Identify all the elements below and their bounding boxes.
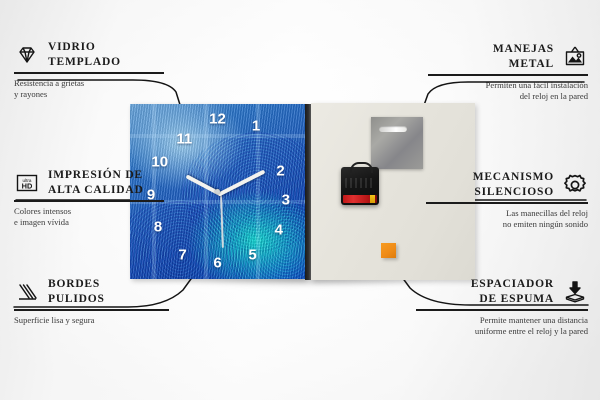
callout-desc-line1: Permite mantener una distancia: [480, 315, 588, 325]
callout-desc-line1: Colores intensos: [14, 206, 71, 216]
foam-spacer-icon: [562, 279, 588, 305]
callout-rule: [14, 72, 164, 73]
callout-rule: [426, 202, 588, 203]
callout-rule: [428, 74, 588, 75]
clock-numeral: 5: [248, 247, 256, 262]
svg-text:HD: HD: [22, 181, 33, 190]
callout-title-line2: PULIDOS: [48, 293, 105, 305]
movement-battery: [343, 195, 377, 203]
callout-espaciador-espuma: ESPACIADOR DE ESPUMA Permite mantener un…: [416, 277, 588, 338]
diamond-icon: [14, 42, 40, 68]
callout-desc-line2: y rayones: [14, 89, 47, 99]
callout-desc-line2: no emiten ningún sonido: [503, 219, 588, 229]
callout-title-line1: ESPACIADOR: [471, 278, 554, 290]
callout-mecanismo-silencioso: MECANISMO SILENCIOSO Las manecillas del …: [426, 170, 588, 231]
callout-bordes-pulidos: BORDES PULIDOS Superficie lisa y segura: [14, 277, 169, 326]
callout-title-line1: VIDRIO: [48, 41, 96, 53]
infographic-canvas: 12 1 2 3 4 5 6 7 8 9 10 11: [0, 0, 600, 400]
gear-icon: [562, 172, 588, 198]
clock-numeral: 3: [282, 193, 290, 208]
callout-title-line1: MECANISMO: [473, 171, 554, 183]
callout-title-line2: METAL: [509, 58, 554, 70]
callout-desc-line1: Resistencia a grietas: [14, 78, 84, 88]
callout-title-line1: MANEJAS: [493, 43, 554, 55]
callout-title-line1: BORDES: [48, 278, 100, 290]
callout-title-line2: ALTA CALIDAD: [48, 184, 144, 196]
callout-desc-line1: Las manecillas del reloj: [506, 208, 588, 218]
movement-hanging-loop: [350, 162, 373, 173]
callout-desc-line2: del reloj en la pared: [520, 91, 588, 101]
callout-rule: [14, 309, 169, 310]
foam-spacer: [381, 243, 396, 258]
quartz-movement: [341, 167, 379, 205]
clock-numeral: 7: [178, 247, 186, 262]
callout-rule: [14, 200, 164, 201]
callout-desc-line2: e imagen vívida: [14, 217, 69, 227]
clock-center-pin: [215, 189, 220, 194]
metal-hanger-plate: [371, 117, 423, 169]
callout-title-line2: DE ESPUMA: [479, 293, 554, 305]
callout-manejas-metal: MANEJAS METAL Permiten una fácil instala…: [428, 42, 588, 103]
callout-desc-line1: Permiten una fácil instalación: [486, 80, 588, 90]
clock-numeral: 2: [276, 163, 284, 178]
clock-numeral: 12: [209, 112, 226, 127]
callout-title-line2: SILENCIOSO: [474, 186, 554, 198]
callout-impresion-alta-calidad: ultra HD IMPRESIÓN DE ALTA CALIDAD Color…: [14, 168, 164, 229]
polished-edges-icon: [14, 279, 40, 305]
clock-numeral: 10: [151, 154, 168, 169]
hanger-slot: [379, 126, 407, 132]
ultra-hd-icon: ultra HD: [14, 170, 40, 196]
clock-numeral: 1: [252, 119, 260, 134]
callout-title-line1: IMPRESIÓN DE: [48, 169, 143, 181]
hanging-frame-icon: [562, 44, 588, 70]
callout-title-line2: TEMPLADO: [48, 56, 121, 68]
movement-detail: [345, 178, 375, 188]
clock-numeral: 6: [213, 256, 221, 271]
callout-rule: [416, 309, 588, 310]
callout-vidrio-templado: VIDRIO TEMPLADO Resistencia a grietas y …: [14, 40, 164, 101]
clock-numeral: 11: [176, 132, 192, 147]
callout-desc-line2: uniforme entre el reloj y la pared: [475, 326, 588, 336]
clock-numeral: 4: [275, 223, 283, 238]
callout-desc-line1: Superficie lisa y segura: [14, 315, 94, 325]
product-illustration: 12 1 2 3 4 5 6 7 8 9 10 11: [130, 104, 475, 280]
